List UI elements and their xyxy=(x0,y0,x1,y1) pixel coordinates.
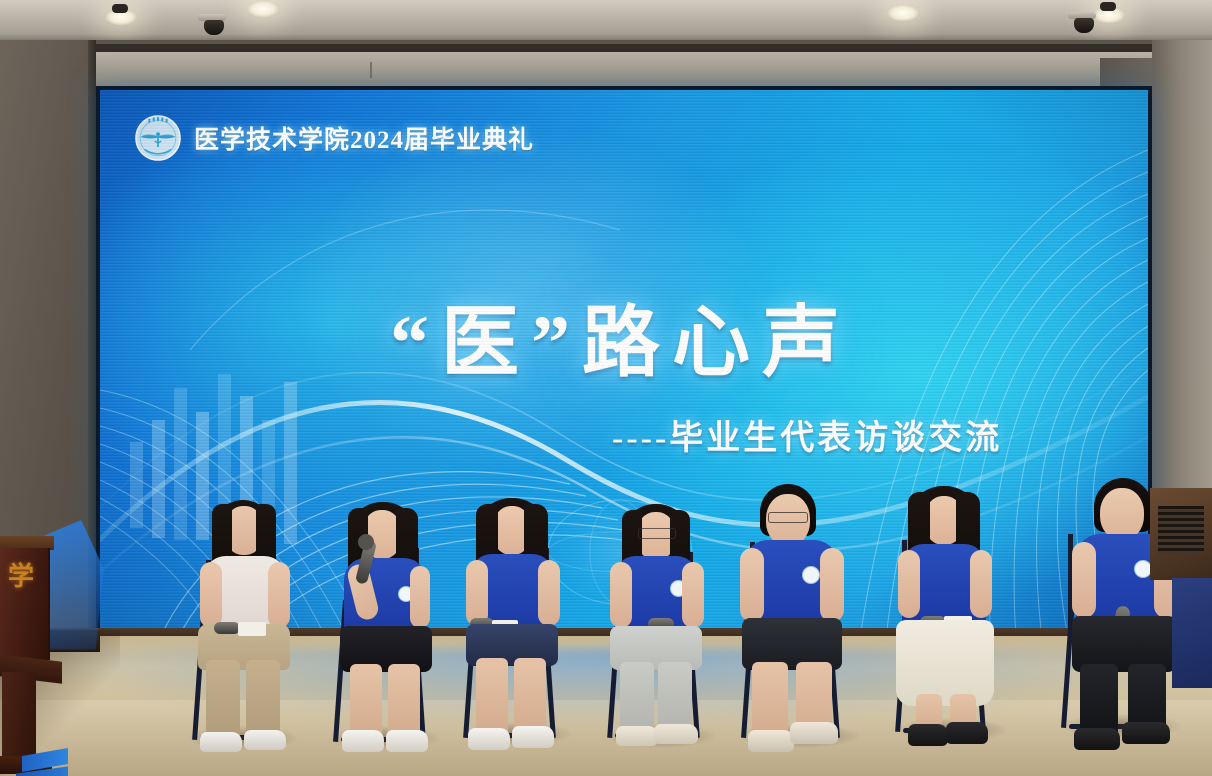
shoe-left xyxy=(908,724,948,746)
shoe-right xyxy=(654,724,698,744)
head xyxy=(1100,488,1144,540)
arm-right xyxy=(410,566,430,628)
shoe-right xyxy=(512,726,554,748)
screen-header: 医学技术学院2024届毕业典礼 xyxy=(134,114,534,162)
ceiling-spotlight xyxy=(246,0,280,18)
eyeglasses-icon xyxy=(638,528,676,539)
shoe-right xyxy=(1122,722,1170,744)
microphone-head xyxy=(358,534,374,550)
shoe-left xyxy=(1074,728,1120,750)
arm-right xyxy=(820,548,844,622)
leg-right xyxy=(246,660,280,740)
leg-left xyxy=(620,662,654,734)
arm-right xyxy=(970,550,992,618)
arm-right xyxy=(268,562,290,628)
eyeglasses-icon xyxy=(768,512,808,523)
arm-left xyxy=(898,550,920,618)
side-navy-seating xyxy=(1172,578,1212,688)
shoe-left xyxy=(468,728,510,750)
ceiling-spotlight-fixture xyxy=(1100,2,1116,11)
polo-logo-badge xyxy=(802,566,820,584)
shoe-left xyxy=(748,730,794,752)
arm-left xyxy=(466,560,488,626)
leg-left xyxy=(752,662,788,740)
valance-seam xyxy=(370,62,372,78)
arm-right xyxy=(682,562,704,628)
ceiling-spotlight xyxy=(886,4,920,22)
leg-left xyxy=(1080,664,1118,738)
microphone xyxy=(214,622,240,634)
wooden-podium: 学 xyxy=(0,520,58,776)
side-grille xyxy=(1158,506,1204,554)
shoe-right xyxy=(386,730,428,752)
shoe-right xyxy=(790,722,838,744)
podium-emblem-character: 学 xyxy=(8,556,34,593)
screen-subtitle: ----毕业生代表访谈交流 xyxy=(612,410,1002,459)
arm-left xyxy=(740,548,764,622)
screen-header-title: 医学技术学院2024届毕业典礼 xyxy=(194,120,534,156)
arm-left xyxy=(1072,542,1096,618)
screenshot-root: 医学技术学院2024届毕业典礼 “医”路心声 ----毕业生代表访谈交流 学 xyxy=(0,0,1212,776)
lap-skirt xyxy=(896,620,994,706)
leg-left xyxy=(350,664,382,740)
arm-right xyxy=(538,560,560,626)
shoe-left xyxy=(616,726,658,746)
screen-main-title: “医”路心声 xyxy=(390,280,852,392)
shoe-right xyxy=(946,722,988,744)
ceiling-spotlight-fixture xyxy=(112,4,128,13)
shoe-right xyxy=(244,730,286,750)
shoe-left xyxy=(200,732,242,752)
leg-right xyxy=(388,664,420,740)
leg-left xyxy=(476,658,508,738)
medical-school-emblem-icon xyxy=(134,114,182,162)
paper-card xyxy=(238,622,266,636)
leg-left xyxy=(206,660,240,740)
arm-left xyxy=(610,562,632,628)
shoe-left xyxy=(342,730,384,752)
screen-valance-box xyxy=(96,52,1158,86)
arm-left xyxy=(200,562,222,628)
